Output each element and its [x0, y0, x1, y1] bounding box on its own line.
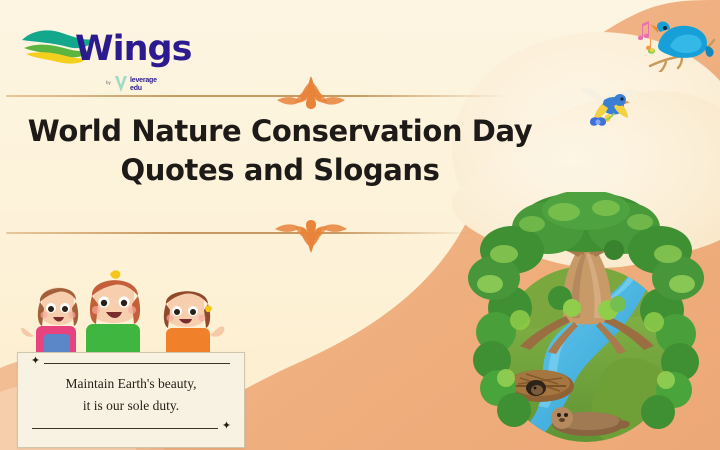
leverage-check-icon: [113, 74, 129, 94]
divider-rule-top: [6, 95, 506, 97]
sparkle-icon-bottom-right: ✦: [221, 421, 232, 432]
quote-card: ✦ Maintain Earth's beauty, it is our sol…: [17, 352, 245, 448]
logo-by-label: by: [106, 80, 111, 85]
title-line-2: Quotes and Slogans: [20, 151, 540, 190]
quote-divider-top: ✦: [30, 359, 232, 368]
floral-ornament-bottom-icon: [272, 216, 350, 258]
quote-divider-bottom: ✦: [30, 424, 232, 433]
blue-bird-singing-on-branch-icon: [636, 6, 716, 72]
kid-right: [164, 291, 225, 360]
title-line-1: World Nature Conservation Day: [20, 112, 540, 151]
blue-yellow-bird-flying-with-flower-icon: [580, 80, 642, 128]
quote-divider-line-bottom: [32, 428, 218, 429]
banner-graphic: Wings by leverage edu World Nature Conse…: [0, 0, 720, 450]
logo-wordmark: Wings: [75, 32, 191, 67]
logo-subbrand: leverage edu: [130, 77, 157, 93]
three-happy-kids-illustration: [18, 268, 228, 360]
quote-divider-line-top: [44, 363, 230, 364]
floral-ornament-top-icon: [275, 72, 347, 112]
earth-with-tree-illustration: [468, 192, 704, 450]
kid-left: [21, 288, 78, 361]
kid-middle: [86, 270, 140, 360]
page-title: World Nature Conservation Day Quotes and…: [20, 112, 540, 189]
quote-line-2: it is our sole duty.: [30, 395, 232, 417]
music-notes-icon: [638, 21, 651, 50]
divider-rule-bottom: [6, 232, 476, 234]
logo-sub-line2: edu: [130, 85, 142, 92]
wings-logo[interactable]: Wings by leverage edu: [18, 14, 178, 94]
logo-sub-line1: leverage: [130, 77, 157, 84]
quote-text: Maintain Earth's beauty, it is our sole …: [30, 373, 232, 418]
sparkle-icon-top-left: ✦: [30, 356, 41, 367]
quote-line-1: Maintain Earth's beauty,: [66, 376, 197, 391]
